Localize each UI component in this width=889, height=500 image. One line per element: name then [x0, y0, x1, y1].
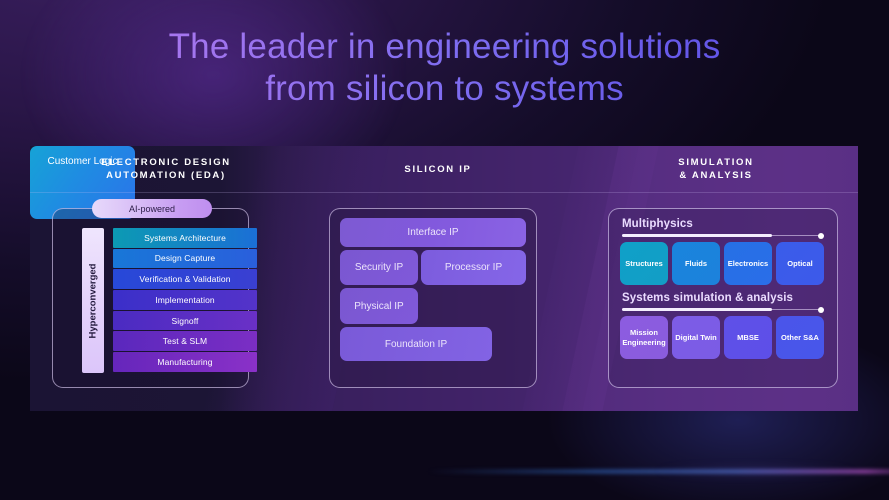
- eda-stage-row[interactable]: Test & SLM: [113, 331, 257, 351]
- processor-ip-block[interactable]: Processor IP: [421, 250, 526, 285]
- column-header-simulation-line1: SIMULATION: [678, 156, 753, 169]
- ai-powered-badge[interactable]: AI-powered: [92, 199, 212, 218]
- column-header-eda: ELECTRONIC DESIGN AUTOMATION (EDA): [30, 146, 302, 192]
- customer-logic-label: Customer Logic: [30, 156, 135, 167]
- slider-knob-icon[interactable]: [818, 307, 824, 313]
- column-header-silicon-line1: SILICON IP: [404, 163, 471, 176]
- security-ip-block[interactable]: Security IP: [340, 250, 418, 285]
- eda-stage-row[interactable]: Design Capture: [113, 249, 257, 269]
- slider-fill: [622, 234, 772, 237]
- simulation-tile[interactable]: Mission Engineering: [620, 316, 668, 359]
- simulation-tile[interactable]: Fluids: [672, 242, 720, 285]
- multiphysics-slider[interactable]: [622, 234, 824, 237]
- slider-rail: [772, 309, 824, 310]
- title-line-1: The leader in engineering solutions: [169, 27, 721, 66]
- title-line-2: from silicon to systems: [0, 68, 889, 110]
- column-header-silicon-ip: SILICON IP: [302, 146, 574, 192]
- simulation-tile[interactable]: Optical: [776, 242, 824, 285]
- hyperconverged-label: Hyperconverged: [82, 228, 104, 373]
- hyperconverged-label-text: Hyperconverged: [88, 263, 99, 338]
- column-header-simulation: SIMULATION & ANALYSIS: [574, 146, 858, 192]
- header-divider: [30, 192, 858, 193]
- eda-stage-row[interactable]: Verification & Validation: [113, 269, 257, 289]
- slider-fill: [622, 308, 772, 311]
- eda-stage-row[interactable]: Systems Architecture: [113, 228, 257, 248]
- systems-simulation-tiles: Mission EngineeringDigital TwinMBSEOther…: [620, 316, 824, 359]
- multiphysics-title: Multiphysics: [622, 218, 693, 230]
- interface-ip-block[interactable]: Interface IP: [340, 218, 526, 247]
- eda-stage-row[interactable]: Implementation: [113, 290, 257, 310]
- simulation-tile[interactable]: Other S&A: [776, 316, 824, 359]
- multiphysics-tiles: StructuresFluidsElectronicsOptical: [620, 242, 824, 285]
- systems-simulation-slider[interactable]: [622, 308, 824, 311]
- page-title: The leader in engineering solutions from…: [0, 26, 889, 110]
- simulation-tile[interactable]: Structures: [620, 242, 668, 285]
- light-streak: [427, 470, 889, 473]
- eda-stage-row[interactable]: Manufacturing: [113, 352, 257, 372]
- capability-panel: ELECTRONIC DESIGN AUTOMATION (EDA) SILIC…: [30, 146, 858, 411]
- simulation-tile[interactable]: MBSE: [724, 316, 772, 359]
- physical-ip-block[interactable]: Physical IP: [340, 288, 418, 324]
- simulation-tile[interactable]: Electronics: [724, 242, 772, 285]
- simulation-tile[interactable]: Digital Twin: [672, 316, 720, 359]
- foundation-ip-block[interactable]: Foundation IP: [340, 327, 492, 361]
- eda-stage-row[interactable]: Signoff: [113, 311, 257, 331]
- systems-simulation-title: Systems simulation & analysis: [622, 292, 793, 304]
- column-header-simulation-line2: & ANALYSIS: [678, 169, 753, 182]
- slider-rail: [772, 235, 824, 236]
- eda-stage-stack: Systems ArchitectureDesign CaptureVerifi…: [113, 228, 257, 373]
- column-header-eda-line2: AUTOMATION (EDA): [101, 169, 231, 182]
- slide-canvas: The leader in engineering solutions from…: [0, 0, 889, 500]
- slider-knob-icon[interactable]: [818, 233, 824, 239]
